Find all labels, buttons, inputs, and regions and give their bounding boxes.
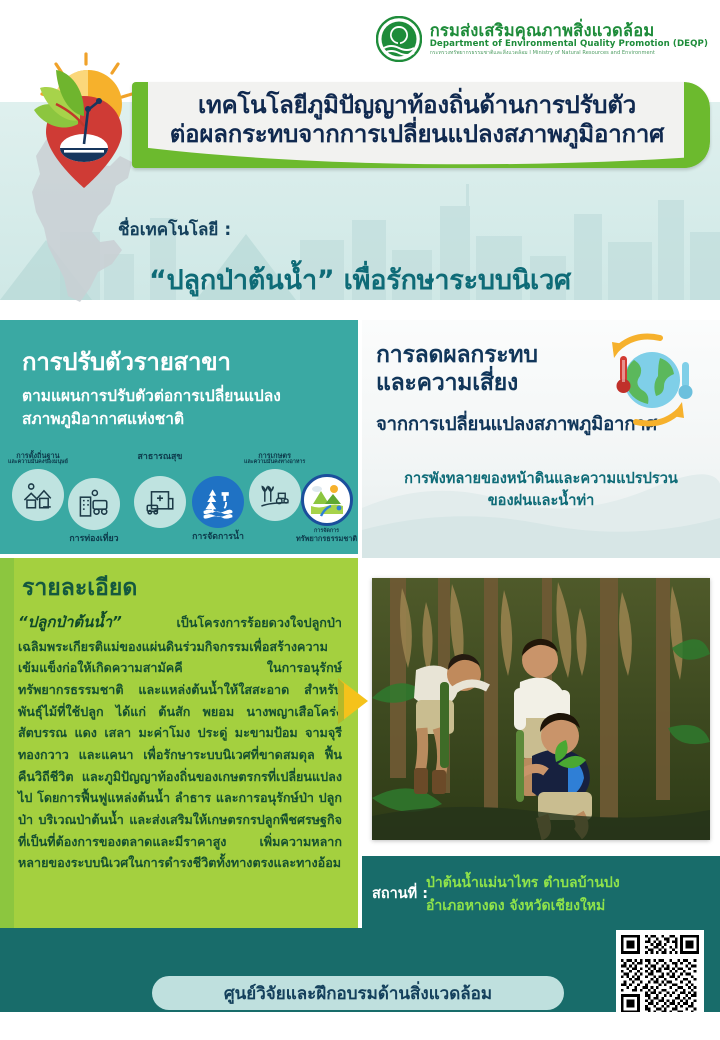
tourism-city-bus-icon bbox=[68, 478, 120, 530]
mitigation-heading: การลดผลกระทบ และความเสี่ยง bbox=[376, 342, 606, 397]
mitigation-note-line-2: ของฝนและน้ำท่า bbox=[372, 490, 710, 512]
deqp-tree-seal-icon bbox=[376, 16, 422, 62]
water-management-tap-river-icon bbox=[192, 476, 244, 528]
sector-item-water[interactable]: การจัดการน้ำ bbox=[192, 476, 244, 542]
sector-item-health[interactable]: สาธารณสุข bbox=[134, 452, 186, 528]
location-line-2: อำเภอหางดง จังหวัดเชียงใหม่ bbox=[426, 895, 620, 918]
mitigation-panel: การลดผลกระทบ และความเสี่ยง จากการเปลี่ยน… bbox=[362, 320, 720, 558]
tree-planting-photo bbox=[372, 578, 710, 840]
settlement-houses-icon bbox=[12, 469, 64, 521]
sector-item-settlement[interactable]: การตั้งถิ่นฐาน และความมั่นคงของมนุษย์ bbox=[8, 452, 68, 521]
agriculture-crops-tractor-icon bbox=[249, 469, 301, 521]
right-triangle-arrow-icon bbox=[336, 672, 370, 730]
sector-item-tourism[interactable]: การท่องเที่ยว bbox=[68, 478, 120, 544]
qr-code-icon[interactable] bbox=[616, 930, 704, 1018]
adaptation-subheading-1: ตามแผนการปรับตัวต่อการเปลี่ยนแปลง bbox=[22, 385, 344, 408]
public-health-hospital-icon bbox=[134, 476, 186, 528]
poster-root: กรมส่งเสริมคุณภาพสิ่งแวดล้อม Department … bbox=[0, 0, 720, 1040]
footer-center-name: ศูนย์วิจัยและฝึกอบรมด้านสิ่งแวดล้อม bbox=[152, 976, 564, 1010]
title-line-1: เทคโนโลยีภูมิปัญญาท้องถิ่นด้านการปรับตัว bbox=[158, 91, 676, 120]
mitigation-note-line-1: การพังทลายของหน้าดินและความแปรปรวน bbox=[372, 468, 710, 490]
title-banner: เทคโนโลยีภูมิปัญญาท้องถิ่นด้านการปรับตัว… bbox=[132, 82, 710, 168]
sector-item-natural-resources[interactable]: การจัดการ ทรัพยากรธรรมชาติ bbox=[296, 474, 357, 543]
globe-thermometer-recycle-icon bbox=[594, 332, 702, 428]
details-heading: รายละเอียด bbox=[22, 570, 358, 606]
sector-icon-row: การตั้งถิ่นฐาน และความมั่นคงของมนุษย์ bbox=[0, 452, 358, 552]
natural-resources-mountain-icon bbox=[301, 474, 353, 526]
details-text: เป็นโครงการร้อยดวงใจปลูกป่าเฉลิมพระเกียร… bbox=[18, 615, 342, 870]
location-value: ป่าต้นน้ำแม่นาไทร ตำบลบ้านปง อำเภอหางดง … bbox=[426, 872, 620, 917]
sector-label-natural-resources: ทรัพยากรธรรมชาติ bbox=[296, 535, 357, 543]
details-panel: รายละเอียด “ปลูกป่าต้นน้ำ” เป็นโครงการร้… bbox=[0, 558, 358, 958]
deqp-logo: กรมส่งเสริมคุณภาพสิ่งแวดล้อม Department … bbox=[376, 16, 708, 62]
location-label: สถานที่ : bbox=[372, 882, 428, 905]
adaptation-subheading-2: สภาพภูมิอากาศแห่งชาติ bbox=[22, 408, 344, 431]
mitigation-heading-line-1: การลดผลกระทบ bbox=[376, 342, 606, 370]
sector-label-water: การจัดการน้ำ bbox=[192, 532, 244, 542]
technology-label: ชื่อเทคโนโลยี : bbox=[118, 216, 231, 243]
sector-sublabel-settlement: และความมั่นคงของมนุษย์ bbox=[8, 460, 68, 466]
mitigation-note: การพังทลายของหน้าดินและความแปรปรวน ของฝน… bbox=[372, 468, 710, 512]
location-bar: สถานที่ : ป่าต้นน้ำแม่นาไทร ตำบลบ้านปง อ… bbox=[362, 856, 720, 928]
adaptation-heading: การปรับตัวรายสาขา bbox=[22, 342, 358, 381]
page-title: เทคโนโลยีภูมิปัญญาท้องถิ่นด้านการปรับตัว… bbox=[158, 91, 676, 150]
details-lead: “ปลูกป่าต้นน้ำ” bbox=[18, 613, 122, 631]
bottom-white-strip bbox=[0, 1012, 720, 1040]
mitigation-heading-line-2: และความเสี่ยง bbox=[376, 370, 606, 398]
sector-label-tourism: การท่องเที่ยว bbox=[68, 534, 120, 544]
logo-ministry: กระทรวงทรัพยากรธรรมชาติและสิ่งแวดล้อม I … bbox=[430, 51, 708, 56]
title-line-2: ต่อผลกระทบจากการเปลี่ยนแปลงสภาพภูมิอากาศ bbox=[158, 120, 676, 149]
logo-org-thai: กรมส่งเสริมคุณภาพสิ่งแวดล้อม bbox=[430, 22, 708, 39]
sector-sublabel-agriculture: และความมั่นคงทางอาหาร bbox=[244, 460, 305, 466]
logo-org-english: Department of Environmental Quality Prom… bbox=[430, 40, 708, 49]
location-line-1: ป่าต้นน้ำแม่นาไทร ตำบลบ้านปง bbox=[426, 872, 620, 895]
details-body: “ปลูกป่าต้นน้ำ” เป็นโครงการร้อยดวงใจปลูก… bbox=[18, 610, 342, 874]
technology-name: “ปลูกป่าต้นน้ำ” เพื่อรักษาระบบนิเวศ bbox=[0, 258, 720, 301]
sector-label-health: สาธารณสุข bbox=[134, 452, 186, 462]
